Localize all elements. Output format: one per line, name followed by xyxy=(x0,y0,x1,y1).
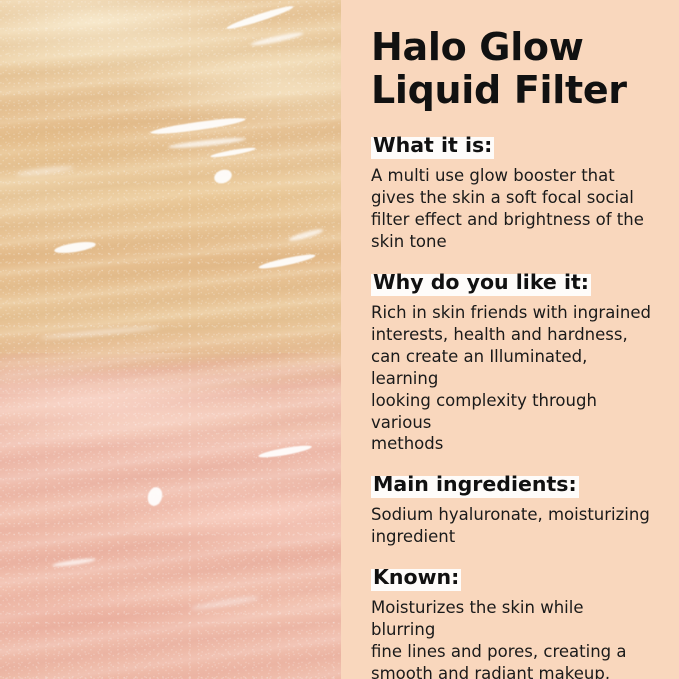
title-line-2: Liquid Filter xyxy=(371,68,627,112)
section-why-do-you-like-it: Why do you like it: Rich in skin friends… xyxy=(371,270,651,456)
product-description-panel: Halo GlowLiquid Filter What it is: A mul… xyxy=(341,0,679,679)
section-body: A multi use glow booster that gives the … xyxy=(371,165,651,253)
product-swatch-image xyxy=(0,0,341,679)
section-heading: Why do you like it: xyxy=(371,270,591,296)
page-title: Halo GlowLiquid Filter xyxy=(371,26,651,111)
section-heading: What it is: xyxy=(371,133,494,159)
product-infographic-card: Halo GlowLiquid Filter What it is: A mul… xyxy=(0,0,679,679)
section-body: Rich in skin friends with ingrained inte… xyxy=(371,302,651,456)
section-body: Sodium hyaluronate, moisturizing ingredi… xyxy=(371,504,651,548)
title-line-1: Halo Glow xyxy=(371,25,584,69)
section-heading: Known: xyxy=(371,565,461,591)
section-body: Moisturizes the skin while blurring fine… xyxy=(371,597,651,679)
section-main-ingredients: Main ingredients: Sodium hyaluronate, mo… xyxy=(371,472,651,548)
section-what-it-is: What it is: A multi use glow booster tha… xyxy=(371,133,651,253)
section-heading: Main ingredients: xyxy=(371,472,579,498)
swatch-shimmer-speckles xyxy=(0,0,341,679)
section-known: Known: Moisturizes the skin while blurri… xyxy=(371,565,651,679)
